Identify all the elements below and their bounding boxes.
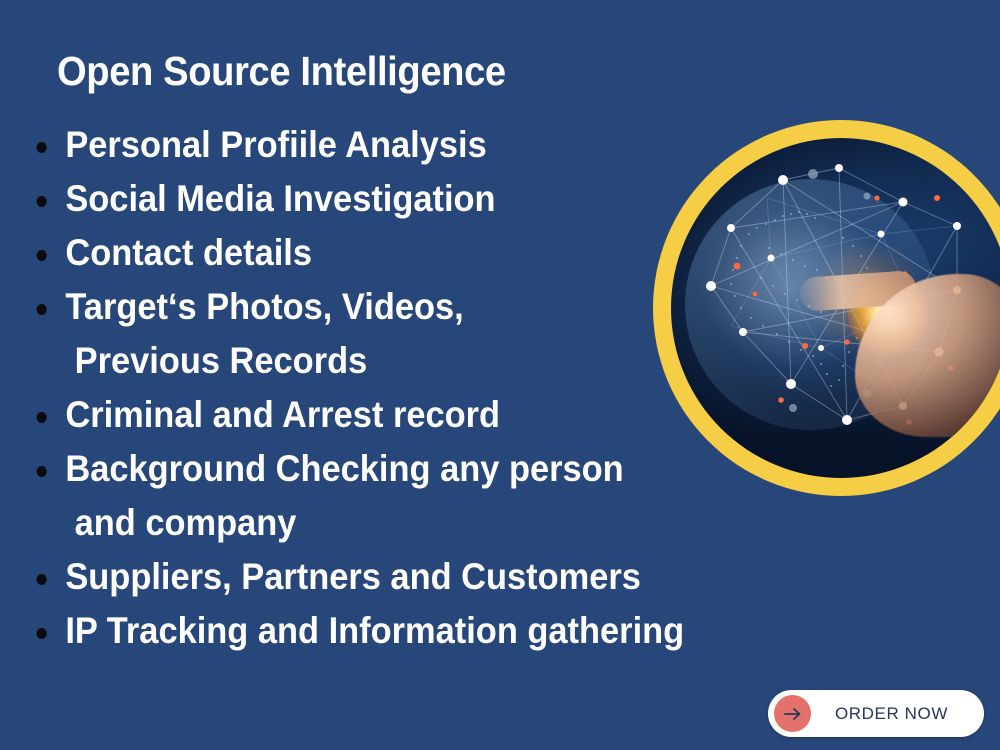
bullet-dot-icon: [37, 142, 47, 153]
list-item: Suppliers, Partners and Customers: [30, 550, 755, 604]
list-item-label: Criminal and Arrest record: [65, 394, 500, 435]
list-item: IP Tracking and Information gathering: [30, 604, 755, 658]
bullet-dot-icon: [37, 250, 47, 261]
slide-canvas: Open Source Intelligence Personal Profii…: [0, 0, 1000, 750]
bullet-dot-icon: [37, 574, 47, 585]
list-item: Contact details: [30, 226, 755, 280]
arrow-right-icon[interactable]: [774, 695, 811, 732]
list-item-continuation: and company: [30, 496, 755, 550]
list-item-label: Personal Profiile Analysis: [65, 124, 486, 165]
bullet-dot-icon: [37, 412, 47, 423]
list-item-label: IP Tracking and Information gathering: [65, 610, 684, 651]
list-item: Social Media Investigation: [30, 172, 755, 226]
bullet-dot-icon: [37, 196, 47, 207]
order-now-button[interactable]: ORDER NOW: [768, 690, 984, 737]
list-item-label: Target‘s Photos, Videos,: [65, 286, 463, 327]
list-item-label: Contact details: [65, 232, 312, 273]
list-item-continuation: Previous Records: [30, 334, 755, 388]
globe-medallion: .ln { stroke:#cfe4ff; stroke-opacity:.40…: [653, 120, 1000, 496]
list-item: Background Checking any person: [30, 442, 755, 496]
list-item: Personal Profiile Analysis: [30, 118, 755, 172]
list-item-label: and company: [75, 502, 297, 543]
bullet-dot-icon: [37, 304, 47, 315]
list-item-label: Social Media Investigation: [65, 178, 495, 219]
order-now-label: ORDER NOW: [811, 704, 984, 724]
page-title: Open Source Intelligence: [57, 48, 506, 95]
globe-network-image: .ln { stroke:#cfe4ff; stroke-opacity:.40…: [671, 138, 1000, 478]
list-item: Target‘s Photos, Videos,: [30, 280, 755, 334]
bullet-dot-icon: [37, 466, 47, 477]
list-item-label: Suppliers, Partners and Customers: [65, 556, 641, 597]
list-item-label: Background Checking any person: [65, 448, 623, 489]
bullet-dot-icon: [37, 628, 47, 639]
list-item-label: Previous Records: [75, 340, 368, 381]
list-item: Criminal and Arrest record: [30, 388, 755, 442]
